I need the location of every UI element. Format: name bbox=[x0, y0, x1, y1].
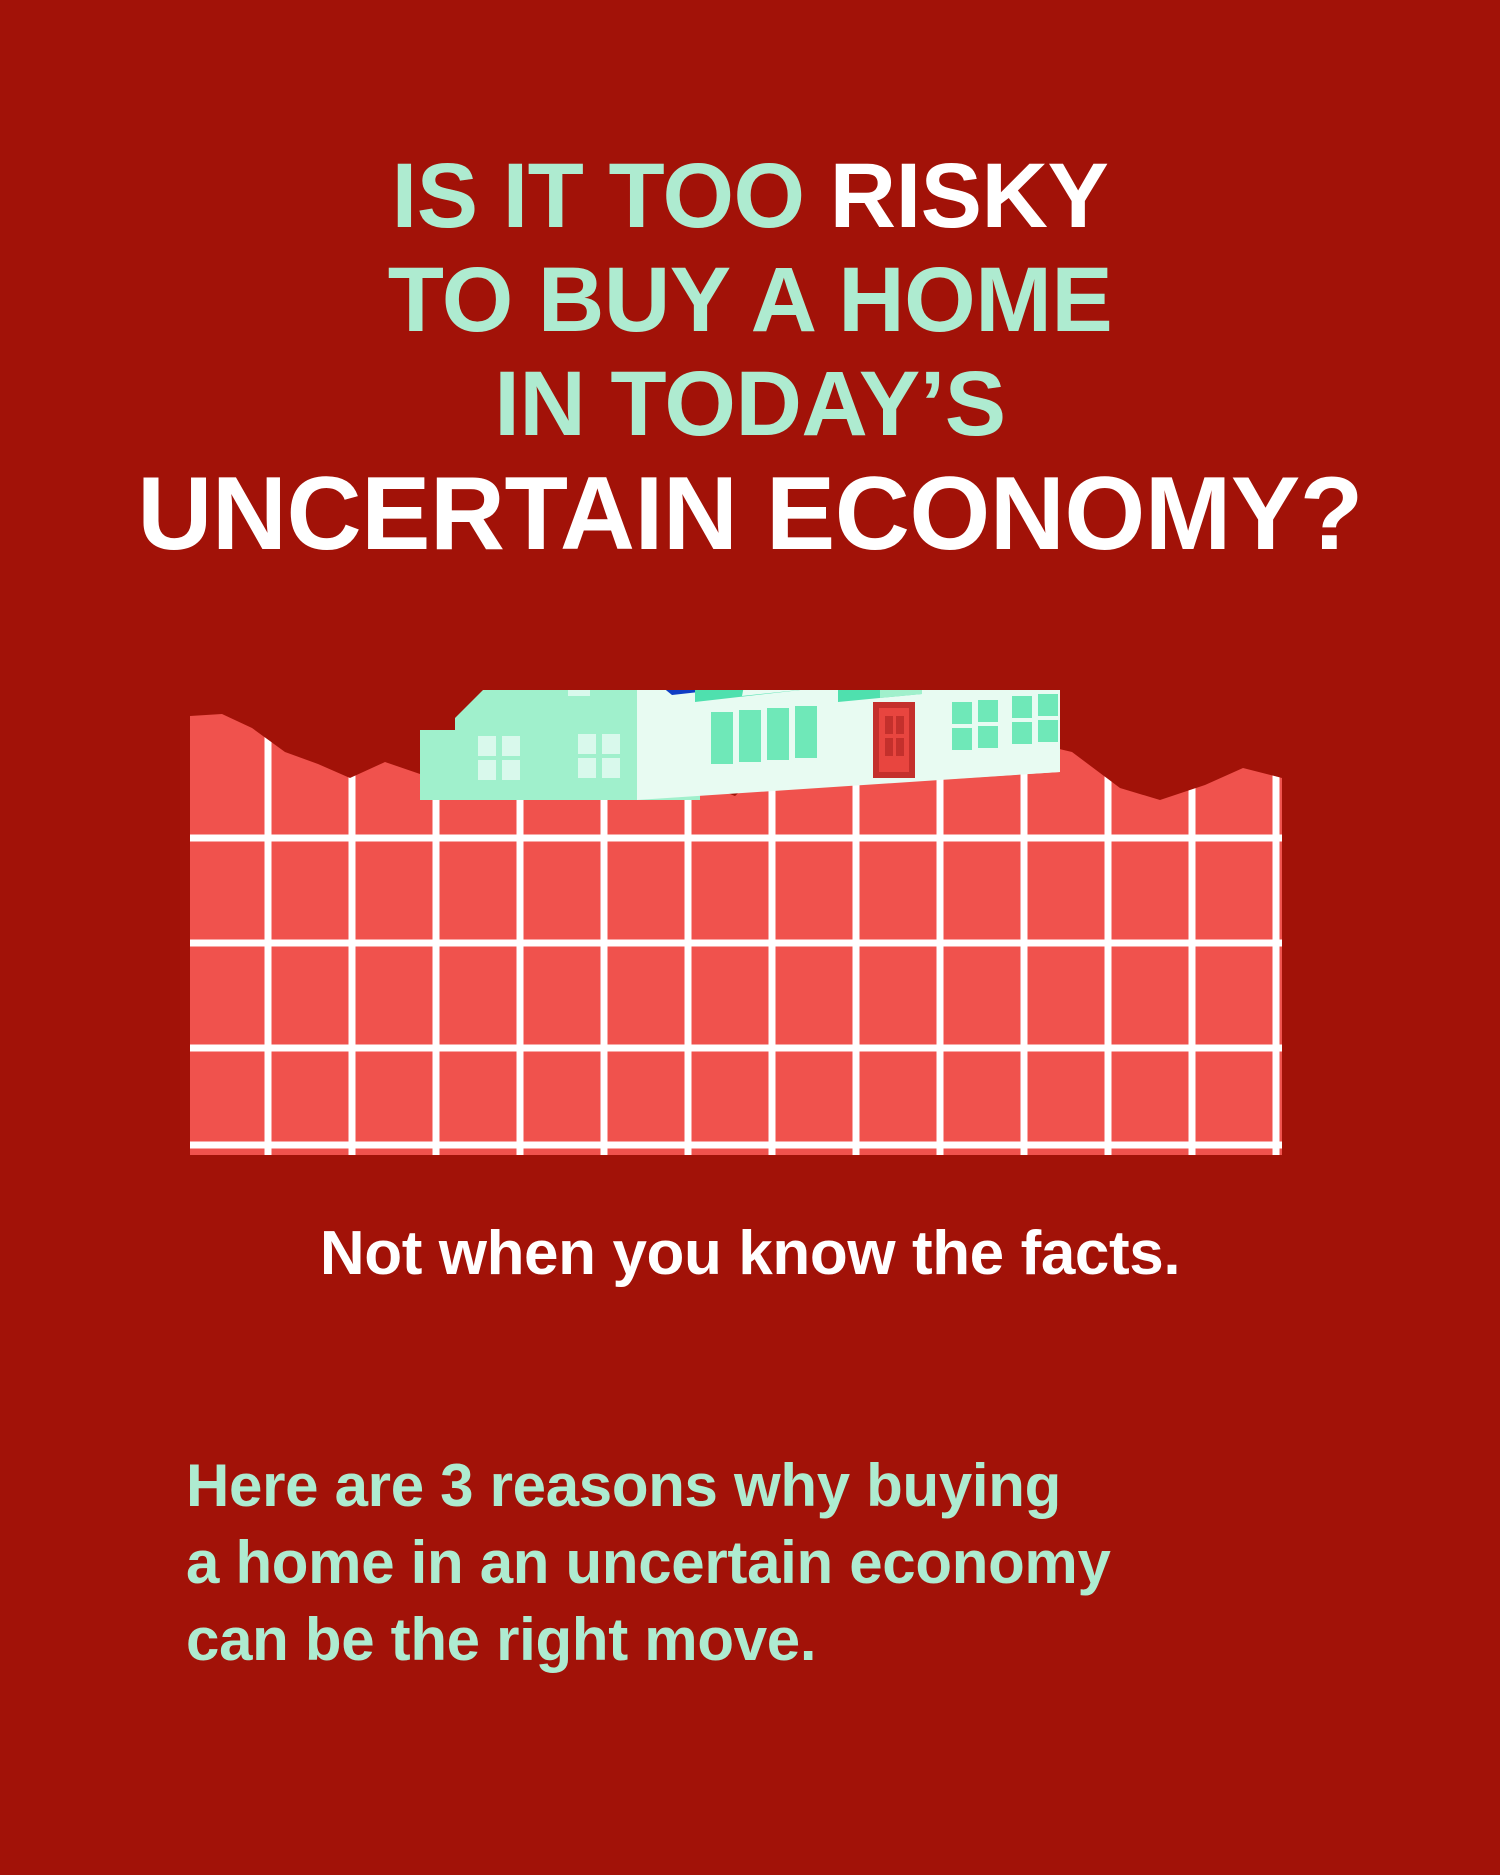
illustration-stage bbox=[0, 690, 1500, 990]
headline-line-4: UNCERTAIN ECONOMY? bbox=[0, 461, 1500, 567]
body-line-1: Here are 3 reasons why buying bbox=[186, 1448, 1346, 1525]
headline-line-1-white: RISKY bbox=[830, 145, 1109, 247]
headline-line-2: TO BUY A HOME bbox=[0, 254, 1500, 348]
body-line-2: a home in an uncertain economy bbox=[186, 1525, 1346, 1602]
body-paragraph: Here are 3 reasons why buying a home in … bbox=[186, 1448, 1346, 1678]
illustration-svg bbox=[0, 690, 1500, 1190]
page-title: IS IT TOO RISKY TO BUY A HOME IN TODAY’S… bbox=[0, 150, 1500, 568]
subhead: Not when you know the facts. bbox=[0, 1218, 1500, 1289]
house-attic-window bbox=[568, 690, 590, 696]
headline-line-1-mint: IS IT TOO bbox=[392, 145, 830, 247]
body-line-3: can be the right move. bbox=[186, 1602, 1346, 1679]
headline-line-3: IN TODAY’S bbox=[0, 358, 1500, 452]
house-door bbox=[879, 708, 909, 772]
headline-line-1: IS IT TOO RISKY bbox=[0, 150, 1500, 244]
infographic-poster: IS IT TOO RISKY TO BUY A HOME IN TODAY’S… bbox=[0, 0, 1500, 1875]
